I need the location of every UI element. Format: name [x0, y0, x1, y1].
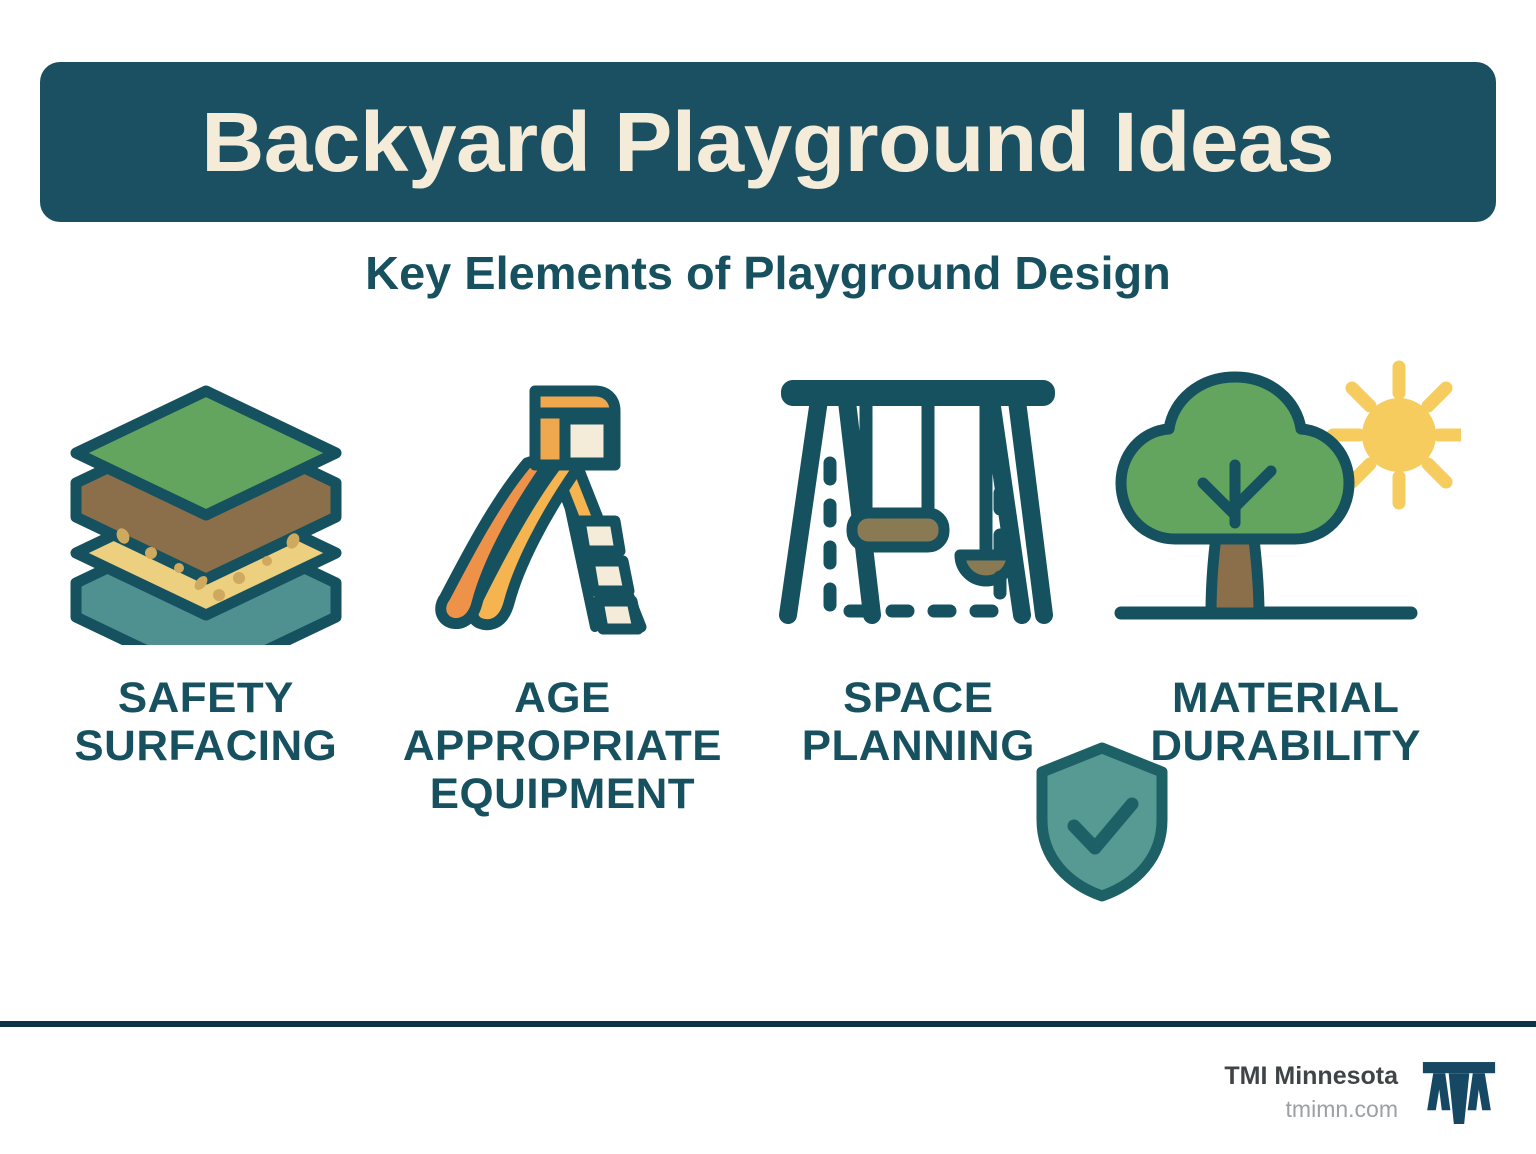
brand-url: tmimn.com [1286, 1095, 1398, 1125]
feature-label: MATERIAL DURABILITY [1151, 674, 1422, 770]
feature-column-age-appropriate-equipment: AGE APPROPRIATE EQUIPMENT [384, 360, 740, 818]
page-subtitle: Key Elements of Playground Design [0, 250, 1536, 296]
layered-surfacing-icon [61, 360, 351, 650]
feature-label: SAFETY SURFACING [75, 674, 338, 770]
feature-columns: SAFETY SURFACING [0, 360, 1536, 920]
header-banner: Backyard Playground Ideas [40, 62, 1496, 222]
page-title: Backyard Playground Ideas [202, 100, 1335, 184]
shield-check-icon [1032, 742, 1172, 902]
feature-column-material-durability: MATERIAL DURABILITY [1096, 360, 1476, 770]
infographic-page: Backyard Playground Ideas Key Elements o… [0, 0, 1536, 1154]
feature-column-safety-surfacing: SAFETY SURFACING [28, 360, 384, 770]
feature-label: SPACE PLANNING [801, 674, 1034, 770]
brand-name: TMI Minnesota [1224, 1061, 1398, 1092]
sun-disc [1362, 398, 1436, 472]
tree-and-sun-icon [1111, 360, 1461, 650]
footer-divider [0, 1021, 1536, 1027]
feature-column-space-planning: SPACE PLANNING [740, 360, 1096, 770]
slide-icon [427, 360, 697, 650]
footer: TMI Minnesota tmimn.com [1224, 1050, 1502, 1136]
feature-label: AGE APPROPRIATE EQUIPMENT [402, 674, 721, 818]
footer-text-block: TMI Minnesota tmimn.com [1224, 1061, 1398, 1124]
swing-set-icon [768, 360, 1068, 650]
tmi-logo-icon [1416, 1050, 1502, 1136]
